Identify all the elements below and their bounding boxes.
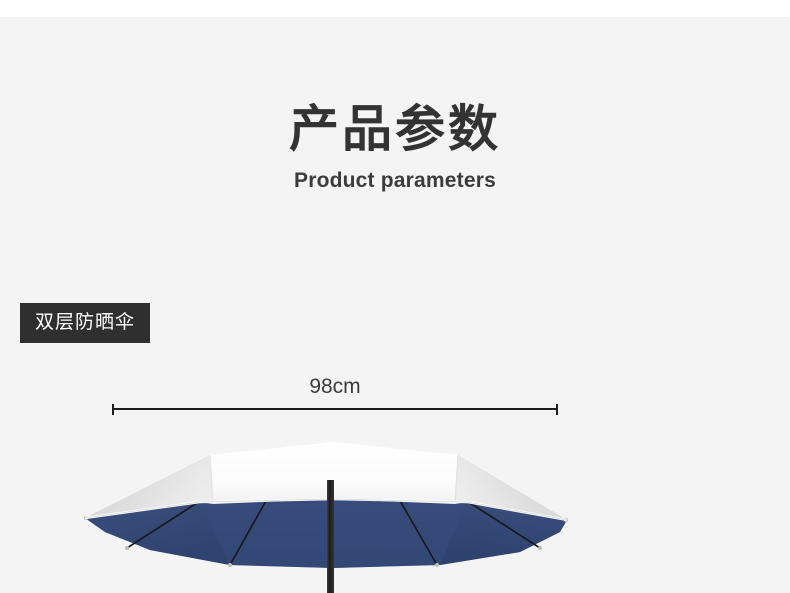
product-image-umbrella: [0, 420, 790, 593]
dimension-cap-right: [556, 404, 558, 415]
dimension-cap-left: [112, 404, 114, 415]
product-type-badge: 双层防晒伞: [20, 303, 150, 343]
umbrella-pole: [327, 480, 334, 593]
page-title-cn: 产品参数: [0, 98, 790, 160]
page-subtitle-en: Product parameters: [0, 167, 790, 195]
dimension-line: [112, 408, 558, 410]
top-white-strip: [0, 0, 790, 17]
product-parameters-page: 产品参数 Product parameters 双层防晒伞 98cm: [0, 0, 790, 593]
dimension-label: 98cm: [112, 373, 558, 401]
